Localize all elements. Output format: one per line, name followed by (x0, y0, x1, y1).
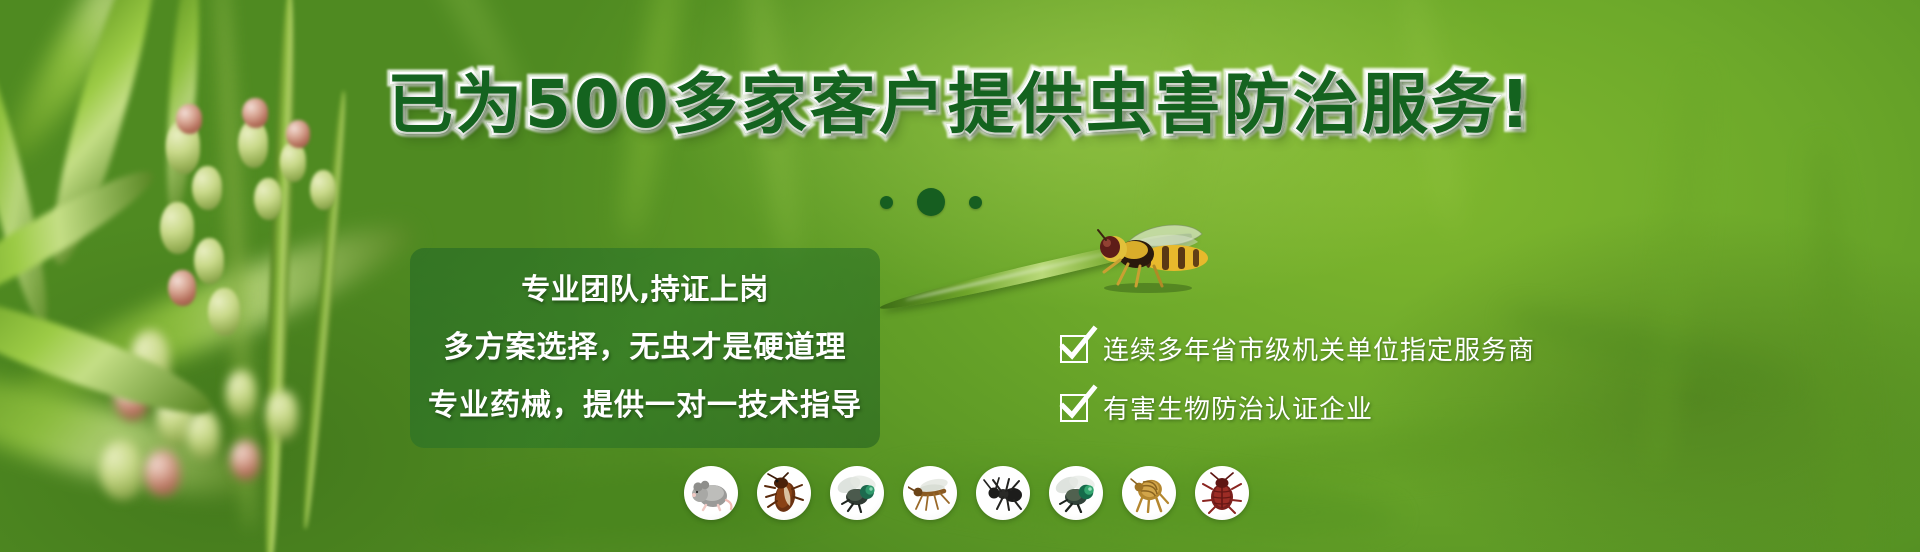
hoverfly-icon (1070, 216, 1220, 296)
list-item: 有害生物防治认证企业 (1060, 389, 1535, 426)
dot-large-center-icon (917, 188, 945, 216)
feature-line-2: 多方案选择，无虫才是硬道理 (444, 322, 847, 366)
checkbox-checked-icon (1060, 394, 1088, 422)
checklist-label-2: 有害生物防治认证企业 (1103, 389, 1373, 426)
bedbug-icon[interactable]: 臭虫 (1195, 466, 1249, 520)
feature-panel: 专业团队,持证上岗 多方案选择，无虫才是硬道理 专业药械，提供一对一技术指导 (410, 248, 880, 448)
decorative-dots (880, 188, 982, 216)
checkbox-checked-icon (1060, 335, 1088, 363)
page-title: 已为500多家客户提供虫害防治服务! (0, 72, 1920, 138)
pest-control-hero-banner: 已为500多家客户提供虫害防治服务! 已为500多家客户提供虫害防治服务! (0, 0, 1920, 552)
list-item: 连续多年省市级机关单位指定服务商 (1060, 330, 1535, 367)
blowfly-icon[interactable]: 绿头蝇 (1049, 466, 1103, 520)
checklist-label-1: 连续多年省市级机关单位指定服务商 (1103, 330, 1535, 367)
flea-icon[interactable]: 跳蚤 (1122, 466, 1176, 520)
cockroach-icon[interactable]: 蟑螂 (757, 466, 811, 520)
dot-small-right-icon (969, 196, 982, 209)
mosquito-icon[interactable]: 蚊 (903, 466, 957, 520)
feature-line-1: 专业团队,持证上岗 (521, 266, 769, 308)
feature-line-3: 专业药械，提供一对一技术指导 (428, 380, 862, 424)
credentials-checklist: 连续多年省市级机关单位指定服务商 有害生物防治认证企业 (1060, 330, 1535, 426)
rat-icon[interactable]: 鼠 (684, 466, 738, 520)
pest-types-row: 鼠 蟑螂 (684, 466, 1249, 520)
fly-icon[interactable]: 蝇 (830, 466, 884, 520)
dot-small-left-icon (880, 196, 893, 209)
ant-icon[interactable]: 蚂蚁 (976, 466, 1030, 520)
